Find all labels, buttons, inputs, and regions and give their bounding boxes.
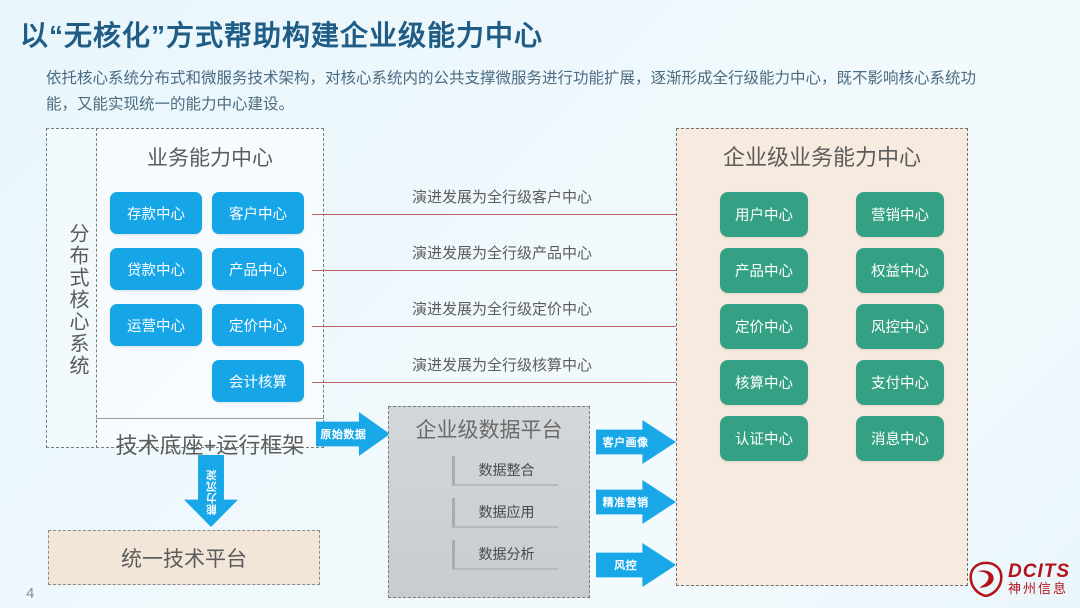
connector-label-accounting: 演进发展为全行级核算中心 [352,354,652,375]
dcits-logo: DCITS 神州信息 [969,558,1070,600]
connector-line-customer [312,214,718,215]
dcits-logo-mark-icon [969,561,1003,597]
raw-data-arrow: 原始数据 [316,412,390,456]
chip-rights-center[interactable]: 权益中心 [856,248,944,293]
capability-precipitation-arrow-label: 能力沉淀 [184,462,238,522]
logo-text-en: DCITS [1008,562,1070,582]
risk-control-arrow-label: 风控 [614,557,658,573]
enterprise-data-platform-title: 企业级数据平台 [388,414,590,444]
chip-pricing-center[interactable]: 定价中心 [212,304,304,346]
chip-accounting-center[interactable]: 会计核算 [212,360,304,402]
data-item-analysis[interactable]: 数据分析 [452,540,558,570]
connector-line-pricing [312,326,718,327]
risk-control-arrow: 风控 [596,543,676,587]
connector-line-accounting [312,382,718,383]
connector-label-product: 演进发展为全行级产品中心 [352,242,652,263]
down-arrow-text: 能力沉淀 [204,469,219,515]
page-subtitle: 依托核心系统分布式和微服务技术架构，对核心系统内的公共支撑微服务进行功能扩展，逐… [46,66,986,118]
chip-message-center[interactable]: 消息中心 [856,416,944,461]
chip-marketing-center[interactable]: 营销中心 [856,192,944,237]
chip-product-center[interactable]: 产品中心 [212,248,304,290]
connector-label-pricing: 演进发展为全行级定价中心 [352,298,652,319]
connector-line-product [312,270,718,271]
chip-user-center[interactable]: 用户中心 [720,192,808,237]
business-capability-center-title: 业务能力中心 [96,142,324,172]
precision-marketing-arrow-label: 精准营销 [603,494,670,510]
connector-label-customer: 演进发展为全行级客户中心 [352,186,652,207]
logo-text-cn: 神州信息 [1008,582,1070,596]
chip-customer-center[interactable]: 客户中心 [212,192,304,234]
customer-profile-arrow-label: 客户画像 [603,434,670,450]
chip-auth-center[interactable]: 认证中心 [720,416,808,461]
page-title: 以“无核化”方式帮助构建企业级能力中心 [20,14,543,54]
distributed-core-system-label: 分布式核心系统 [52,190,90,410]
chip-product-center-ent[interactable]: 产品中心 [720,248,808,293]
raw-data-arrow-label: 原始数据 [320,426,385,442]
customer-profile-arrow: 客户画像 [596,420,676,464]
chip-loan-center[interactable]: 贷款中心 [110,248,202,290]
page-number: 4 [26,585,34,602]
unified-tech-platform-box: 统一技术平台 [48,530,320,585]
data-item-application[interactable]: 数据应用 [452,498,558,528]
chip-accounting-center-ent[interactable]: 核算中心 [720,360,808,405]
data-item-integration[interactable]: 数据整合 [452,456,558,486]
enterprise-capability-center-title: 企业级业务能力中心 [676,140,968,172]
chip-risk-center[interactable]: 风控中心 [856,304,944,349]
precision-marketing-arrow: 精准营销 [596,480,676,524]
chip-deposit-center[interactable]: 存款中心 [110,192,202,234]
chip-payment-center[interactable]: 支付中心 [856,360,944,405]
chip-pricing-center-ent[interactable]: 定价中心 [720,304,808,349]
chip-operations-center[interactable]: 运营中心 [110,304,202,346]
